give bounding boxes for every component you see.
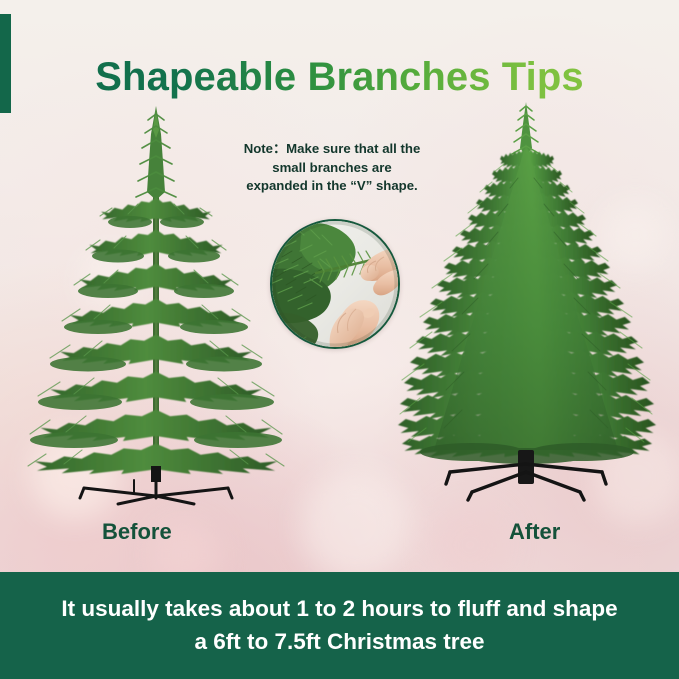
page-title: Shapeable Branches Tips	[0, 55, 679, 100]
banner-text: It usually takes about 1 to 2 hours to f…	[20, 593, 660, 658]
banner-line-2: a 6ft to 7.5ft Christmas tree	[20, 626, 660, 659]
label-before: Before	[102, 519, 172, 545]
tree-before-image	[22, 100, 292, 510]
banner-line-1: It usually takes about 1 to 2 hours to f…	[20, 593, 660, 626]
tree-after-image	[392, 100, 662, 510]
infographic-poster: Shapeable Branches Tips Note：Make sure t…	[0, 0, 679, 679]
bottom-banner: It usually takes about 1 to 2 hours to f…	[0, 572, 679, 679]
hands-shaping-branch-inset	[270, 219, 400, 349]
label-after: After	[509, 519, 560, 545]
